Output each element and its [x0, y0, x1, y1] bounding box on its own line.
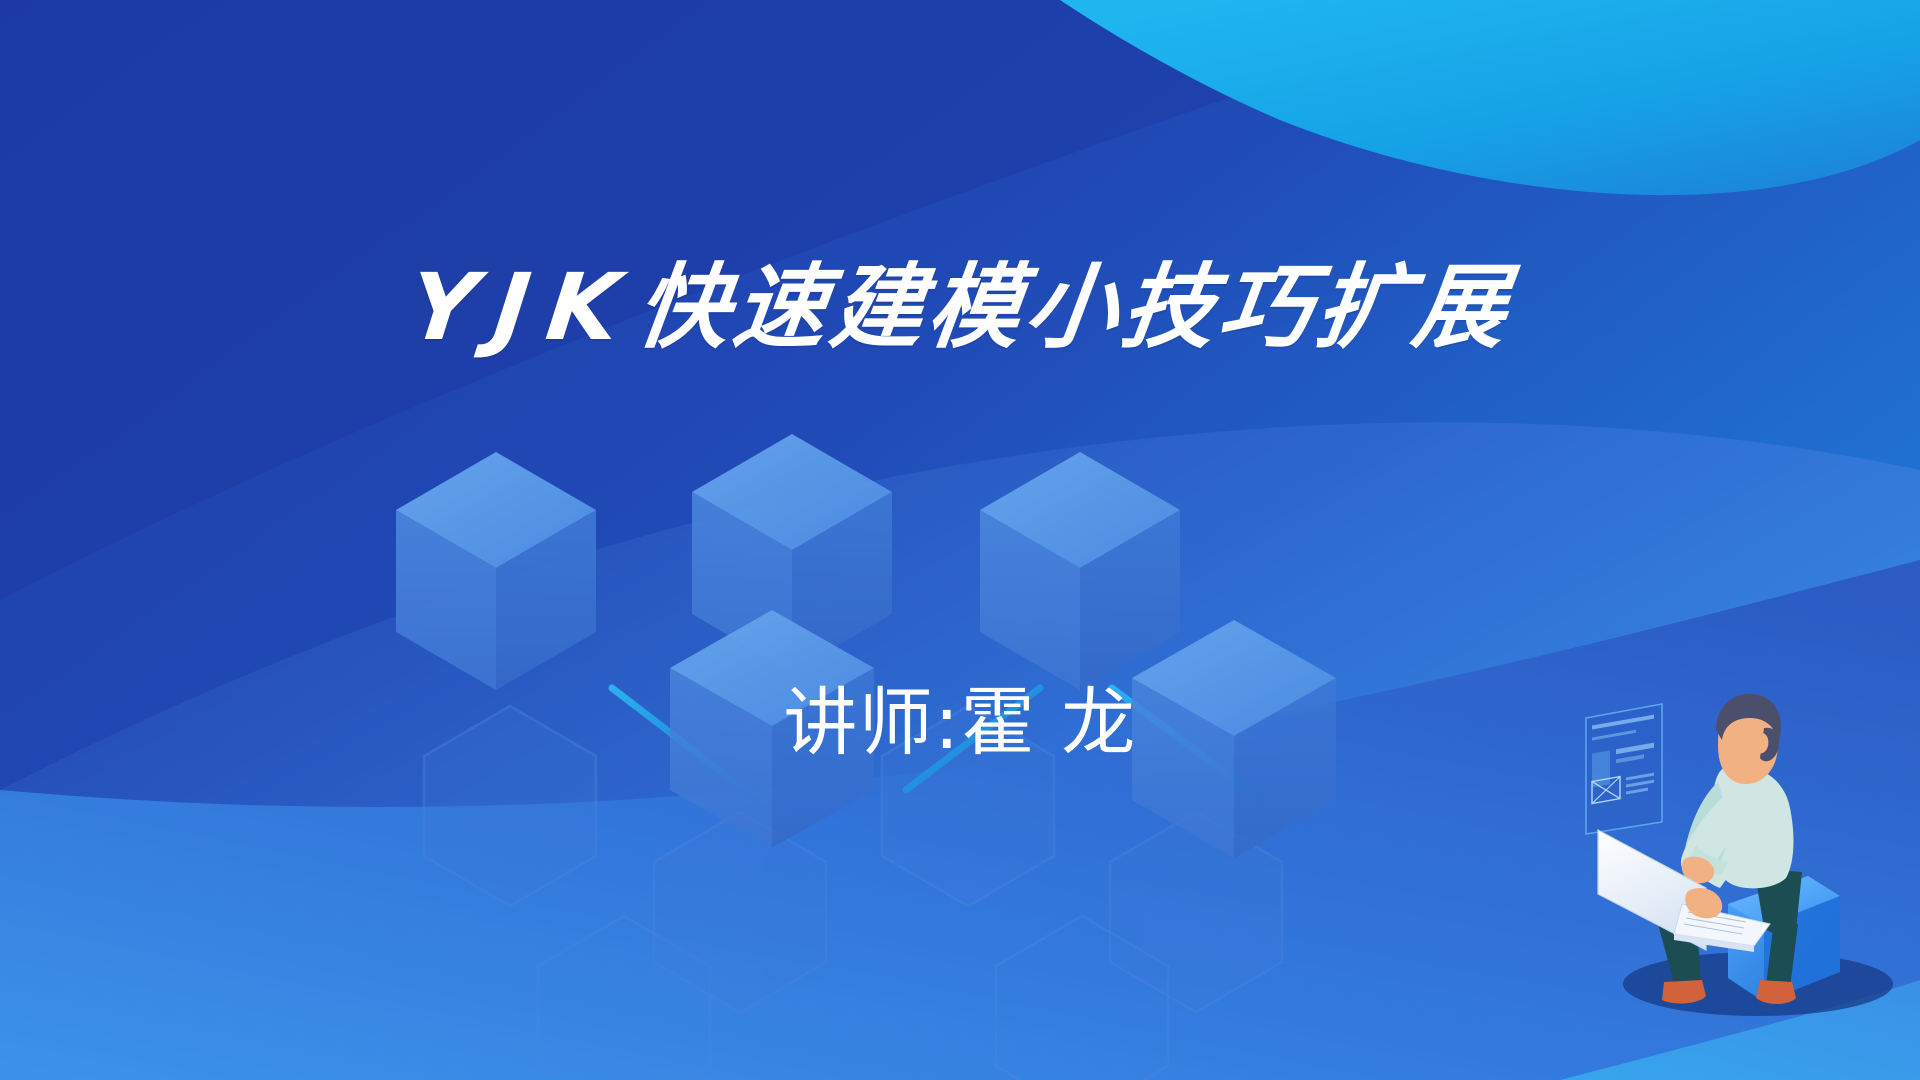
presenter-line: 讲师:霍 龙 — [783, 683, 1136, 764]
title-latin-part: YJK — [403, 254, 643, 361]
subtitle-block: 讲师:霍 龙 — [0, 683, 1920, 764]
title-block: YJK快速建模小技巧扩展 — [0, 196, 1920, 419]
page-title: YJK快速建模小技巧扩展 — [403, 258, 1516, 357]
slide-canvas: YJK快速建模小技巧扩展 讲师:霍 龙 — [0, 0, 1920, 1080]
title-cjk-part: 快速建模小技巧扩展 — [630, 254, 1517, 361]
